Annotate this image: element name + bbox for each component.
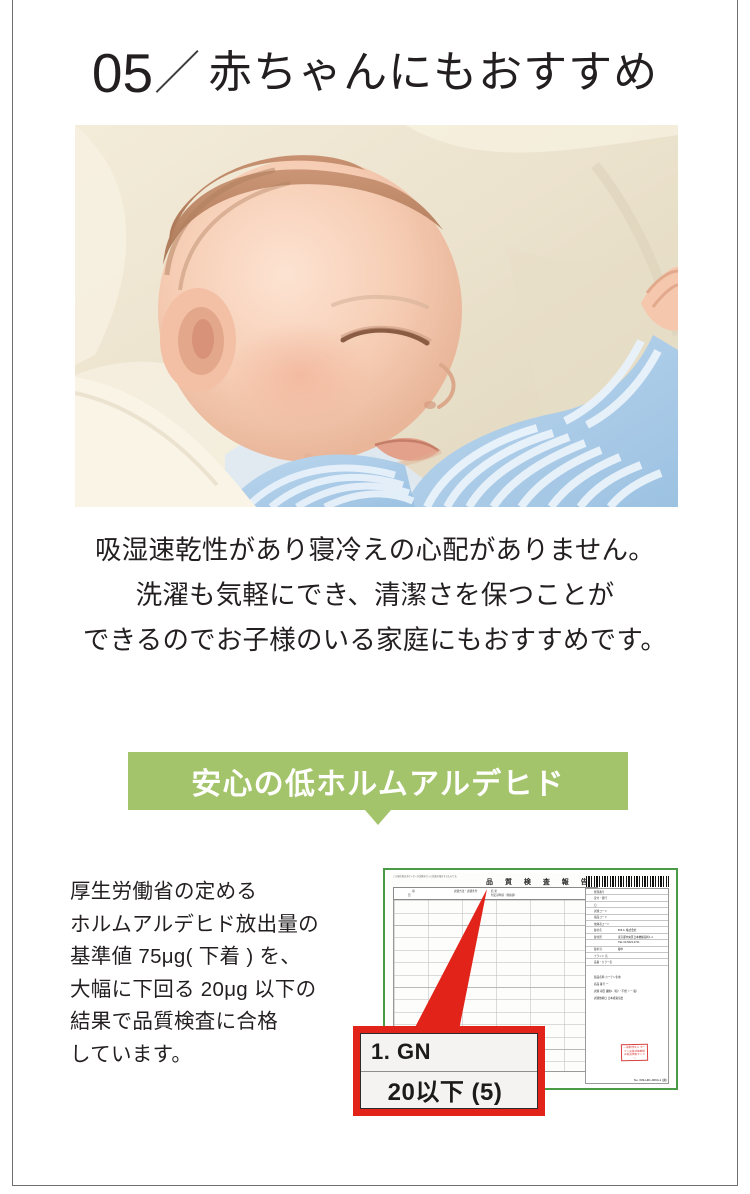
sleeping-baby-photo: [75, 125, 678, 507]
panel-label: 受付・発行: [594, 896, 607, 900]
callout-item-label: 1. GN: [371, 1039, 431, 1065]
callout-row-value: 20以下 (5): [361, 1072, 537, 1109]
note-line-3: 基準値 75μg( 下着 ) を、: [70, 941, 370, 974]
panel-block-3: 試験 項目 繊維1（和）・不燃（ 一 般）: [594, 989, 639, 993]
panel-label: 御担当: [594, 947, 602, 951]
panel-value: 東京都中央区日本橋蛎殻町1-1: [618, 935, 653, 939]
panel-value: TEL 03-5623-2721: [618, 941, 640, 944]
banner-label: 安心の低ホルムアルデヒド: [191, 759, 565, 803]
description-line-3: できるのでお子様のいる家庭にもおすすめです。: [0, 618, 750, 663]
panel-block-2: 商品 番号 ー: [594, 982, 608, 986]
note-line-6: しています。: [70, 1039, 370, 1072]
certificate-info-panel: 整理番号 受付・発行 日 試験コード 検品コード 依頼者コード 御社名B.B.A…: [585, 888, 669, 1084]
grid-header-1: 項: [412, 890, 415, 893]
product-feature-page: 05／赤ちゃんにもおすすめ: [0, 0, 750, 1194]
panel-block-1: 製品名称 カーテン生地: [594, 975, 621, 979]
certificate-grid-header: 項 目 試験方法・試験条件 結 果 判定基準値（規格値）: [393, 887, 598, 900]
banner-background: 安心の低ホルムアルデヒド: [128, 752, 628, 810]
description-line-1: 吸湿速乾性があり寝冷えの心配がありません。: [0, 528, 750, 573]
note-line-5: 結果で品質検査に合格: [70, 1006, 370, 1039]
baby-photo-illustration: [75, 125, 678, 507]
panel-row: 品番・カラー名: [586, 959, 668, 965]
grid-header-4: 結 果: [491, 890, 497, 893]
panel-value: B.B.A. 株式会社: [618, 928, 636, 932]
certificate-report-number: No. 639-H01-0094-1 (裏): [634, 1078, 667, 1082]
panel-label: 品番・カラー名: [594, 960, 612, 964]
banner-arrow-icon: [365, 810, 391, 825]
section-number: 05: [92, 42, 153, 104]
note-line-1: 厚生労働省の定める: [70, 876, 370, 909]
panel-label: 試験コード: [594, 909, 607, 913]
section-heading-text: 赤ちゃんにもおすすめ: [208, 48, 658, 97]
title-separator: ／: [154, 47, 200, 99]
note-line-4: 大幅に下回る 20μg 以下の: [70, 974, 370, 1007]
grid-header-5: 判定基準値（規格値）: [491, 894, 517, 897]
description-line-2: 洗濯も気軽にでき、清潔さを保つことが: [0, 573, 750, 618]
panel-label: 依頼者コード: [594, 922, 610, 926]
panel-block-4: 試験依頼日 日本検査協会: [594, 996, 623, 1000]
formaldehyde-note: 厚生労働省の定める ホルムアルデヒド放出量の 基準値 75μg( 下着 ) を、…: [70, 876, 370, 1071]
panel-label: 御住所: [594, 935, 602, 939]
panel-label: 整理番号: [594, 890, 604, 894]
formaldehyde-banner: 安心の低ホルムアルデヒド: [128, 752, 628, 810]
callout-row-item: 1. GN: [361, 1034, 537, 1072]
result-callout-box: 1. GN 20以下 (5): [353, 1026, 545, 1116]
panel-label: 日: [594, 903, 597, 907]
note-line-2: ホルムアルデヒド放出量の: [70, 909, 370, 942]
inspection-stamp: 一般財団法人 ボーケン品質評価機構 布製品検査センター: [621, 1044, 648, 1061]
grid-header-3: 試験方法・試験条件: [454, 890, 480, 893]
certificate-microtext: この報告書は当センターが試験を行った結果を報告するものです。: [393, 876, 473, 879]
panel-label: ブランド 名: [594, 954, 608, 958]
callout-value-label: 20以下 (5): [388, 1072, 503, 1107]
grid-header-2: 目: [408, 894, 411, 897]
panel-label: 検品コード: [594, 915, 607, 919]
feature-description: 吸湿速乾性があり寝冷えの心配がありません。 洗濯も気軽にでき、清潔さを保つことが…: [0, 528, 750, 663]
panel-label: 御社名: [594, 928, 602, 932]
callout-content: 1. GN 20以下 (5): [360, 1033, 538, 1109]
page-title: 05／赤ちゃんにもおすすめ: [0, 36, 750, 105]
panel-value: 御中: [618, 947, 623, 951]
barcode-icon: [586, 876, 669, 887]
